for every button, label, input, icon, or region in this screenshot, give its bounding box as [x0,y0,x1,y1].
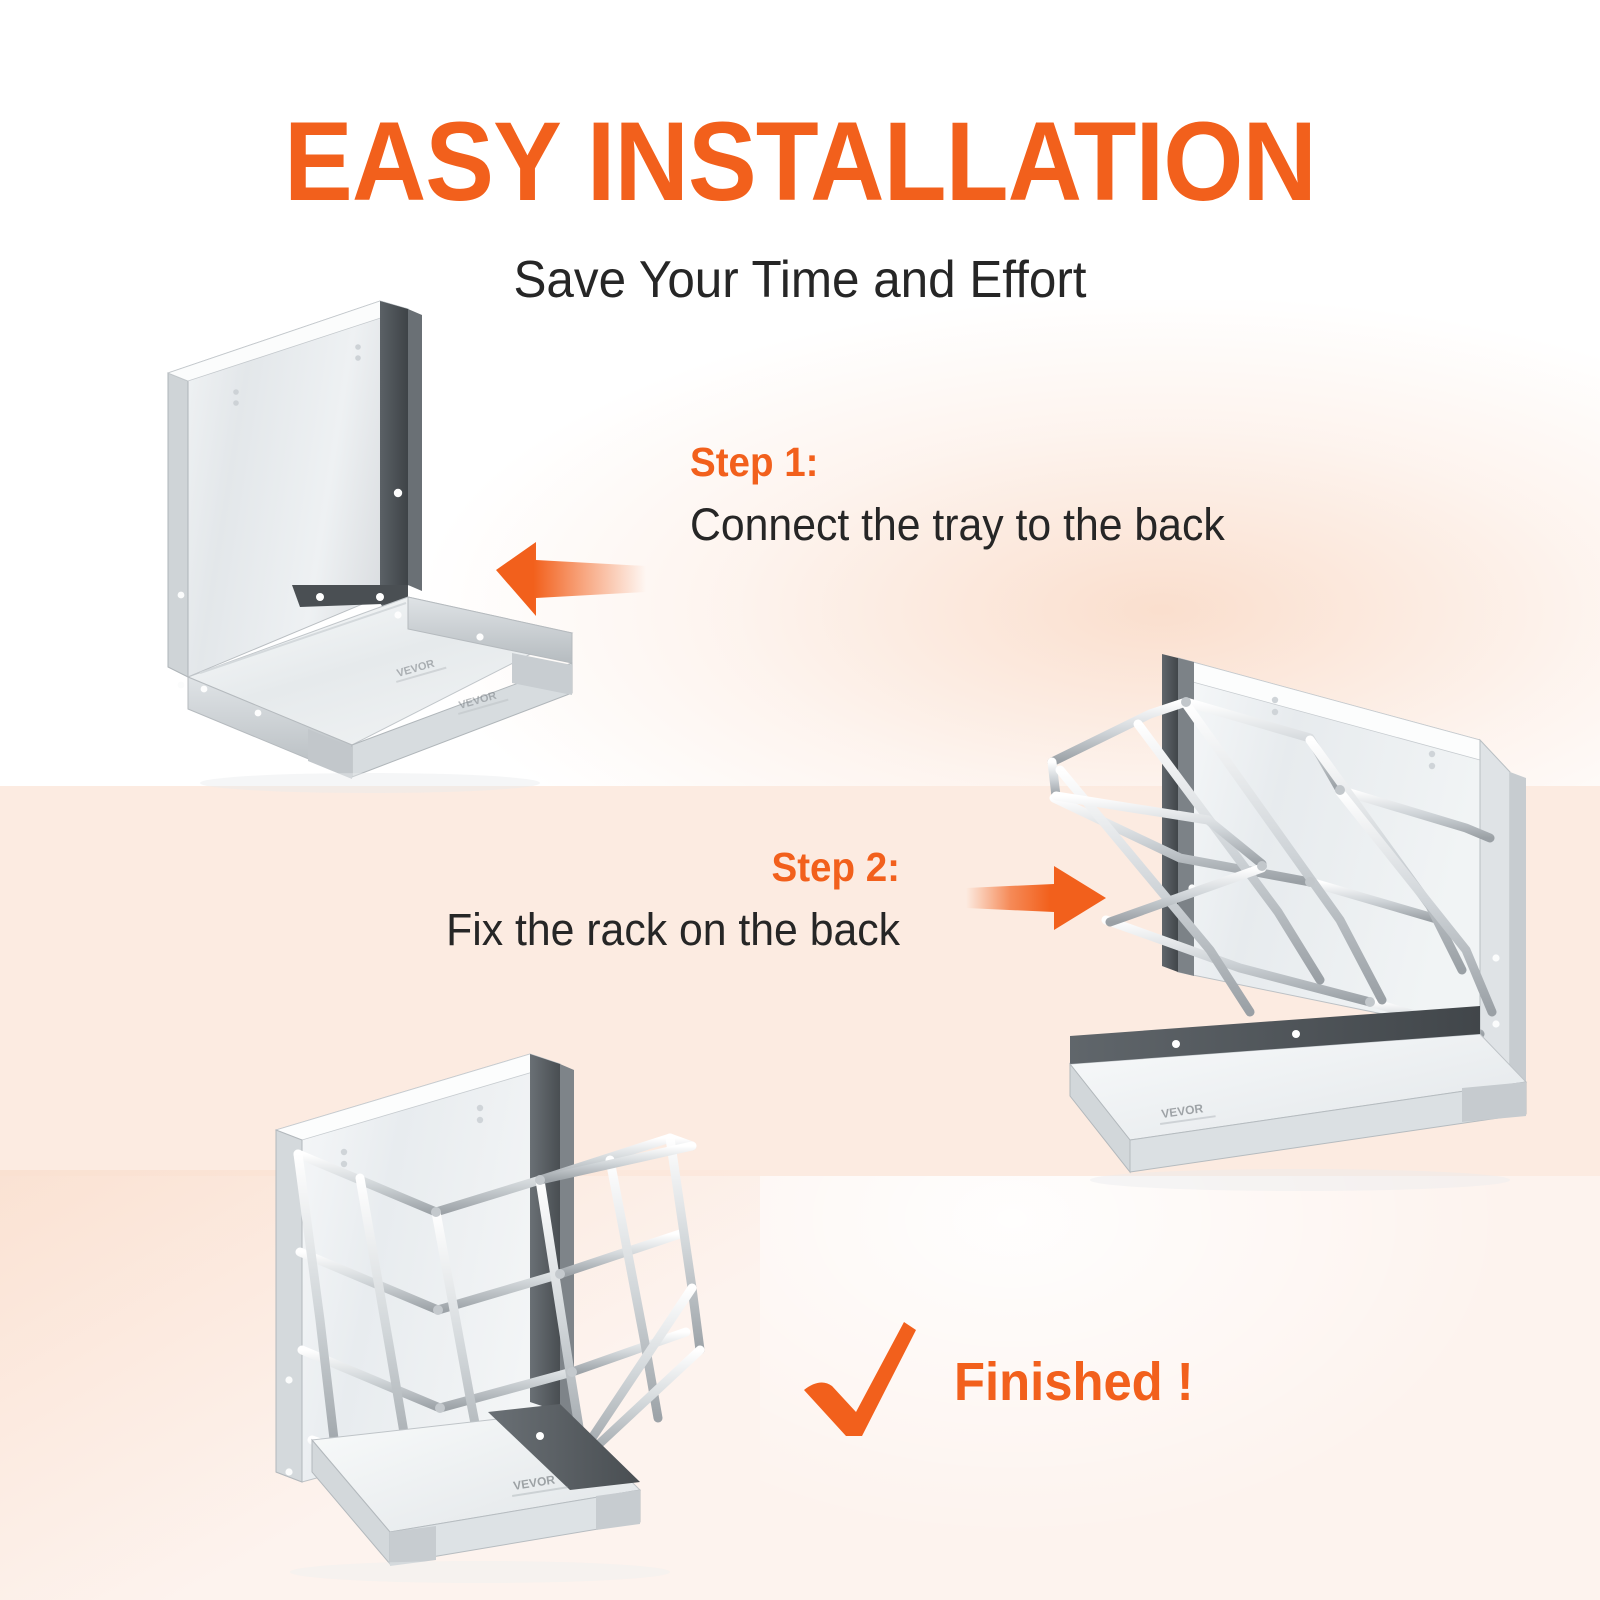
step-1-description: Connect the tray to the back [690,499,1225,551]
arrow-right-icon [966,858,1106,943]
step-2-label: Step 2: [336,845,900,890]
header: EASY INSTALLATION Save Your Time and Eff… [0,0,1600,310]
check-icon [800,1320,920,1443]
step-1-label: Step 1: [690,440,1219,485]
finished-label: Finished ! [954,1351,1194,1413]
page-title: EASY INSTALLATION [64,106,1536,218]
step-2-description: Fix the rack on the back [330,904,900,956]
step-2-text-block: Step 2: Fix the rack on the back [300,845,900,956]
arrow-left-icon [496,534,646,629]
finished-block: Finished ! [800,1320,1209,1443]
step-1-text-block: Step 1: Connect the tray to the back [690,440,1253,551]
product-image-finished: VEVOR [240,1020,750,1595]
page-subtitle: Save Your Time and Effort [40,250,1560,310]
